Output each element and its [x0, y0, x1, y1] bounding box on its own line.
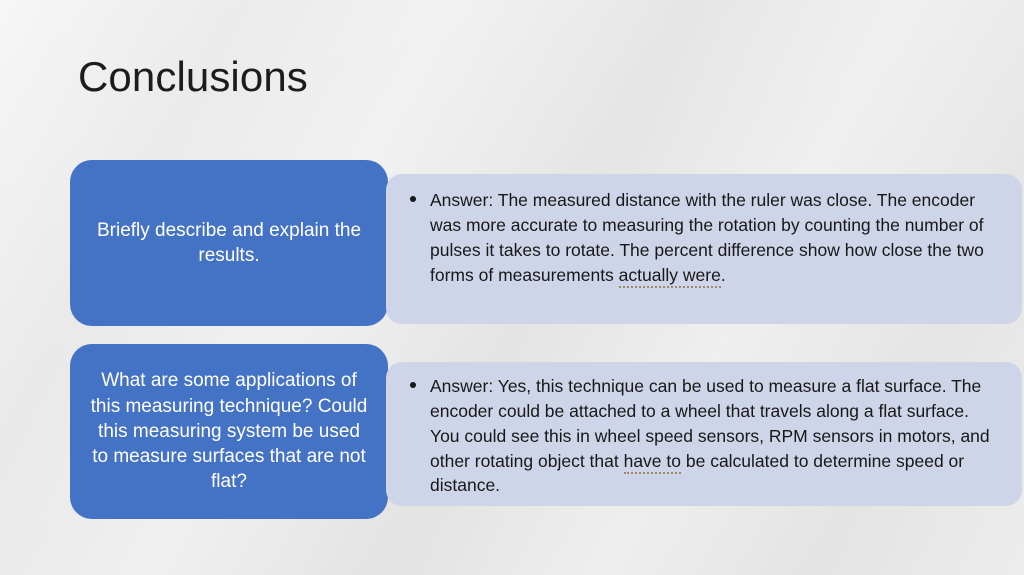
answer-panel-1[interactable]: Answer: The measured distance with the r… — [386, 174, 1022, 324]
answer-text-1-grammar-flag[interactable]: actually were — [619, 265, 721, 288]
page-title: Conclusions — [78, 54, 308, 100]
question-callout-1-label: Briefly describe and explain the results… — [88, 218, 370, 269]
bullet-dot-icon — [410, 196, 416, 202]
question-callout-1[interactable]: Briefly describe and explain the results… — [70, 160, 388, 326]
question-callout-2[interactable]: What are some applications of this measu… — [70, 344, 388, 519]
slide-canvas: Conclusions Briefly describe and explain… — [0, 0, 1024, 575]
answer-text-2-grammar-flag[interactable]: have to — [624, 451, 681, 474]
answer-text-1-tail: . — [721, 265, 726, 285]
bullet-dot-icon — [410, 382, 416, 388]
answer-bullet-item-1: Answer: The measured distance with the r… — [404, 188, 1000, 287]
question-callout-2-label: What are some applications of this measu… — [88, 368, 370, 494]
answer-bullet-item-2: Answer: Yes, this technique can be used … — [404, 374, 1000, 498]
answer-panel-2[interactable]: Answer: Yes, this technique can be used … — [386, 362, 1022, 506]
